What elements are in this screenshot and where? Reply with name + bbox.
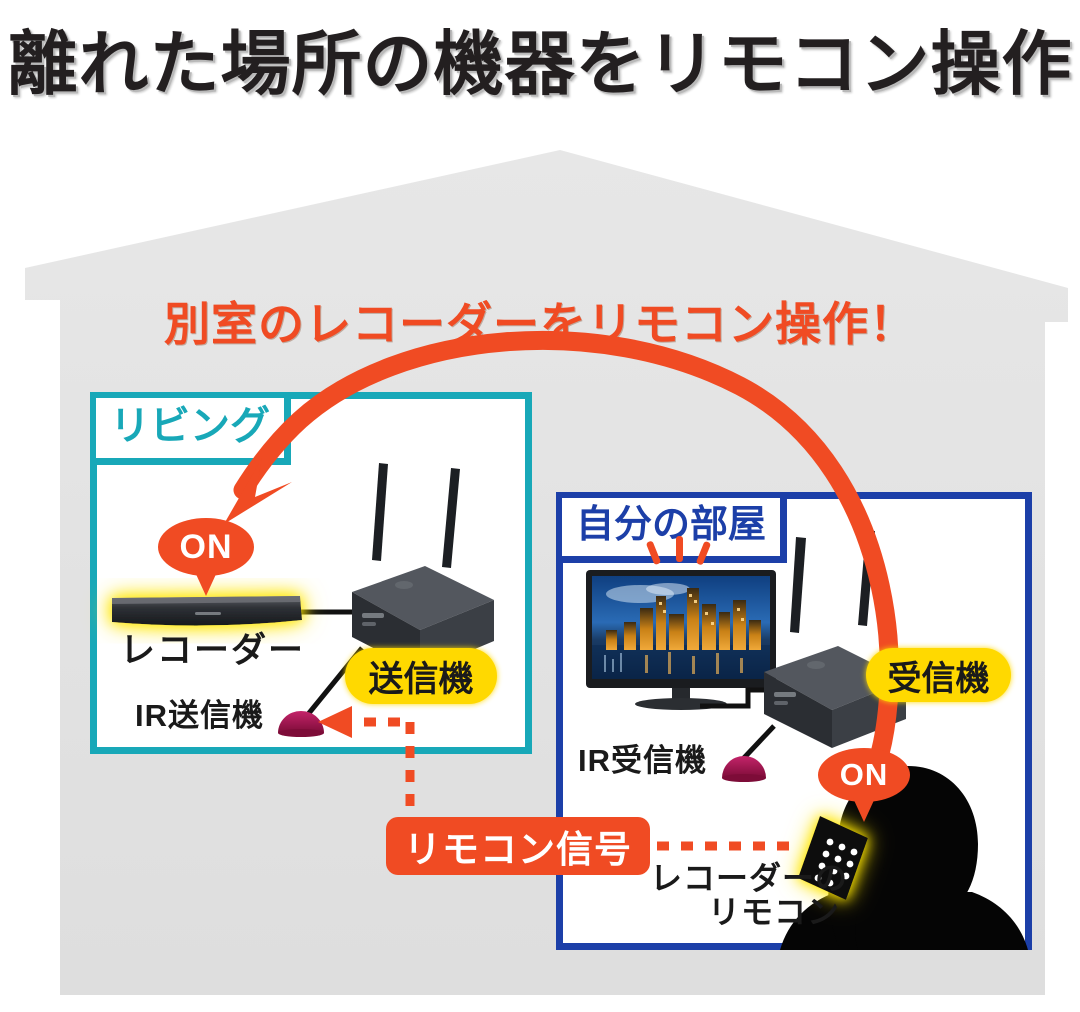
label-remote-line2: リモコン [650, 896, 840, 930]
label-recorder: レコーダー [120, 632, 305, 669]
ir-transmitter-dome [278, 711, 324, 737]
cable-tv-to-receiver [700, 690, 770, 706]
badge-transmitter: 送信機 [345, 648, 497, 704]
label-ir-receiver: IR受信機 [578, 745, 707, 778]
on-bubble-own-room-tail [853, 798, 875, 822]
transmitter-unit [352, 463, 494, 672]
on-bubble-living-label: ON [158, 518, 254, 576]
label-ir-transmitter: IR送信機 [135, 700, 264, 733]
on-bubble-living: ON [158, 518, 254, 576]
label-remote-line1: レコーダーの [650, 862, 840, 896]
tv-sparkle-icon [646, 536, 711, 566]
ir-receiver-dome [722, 756, 766, 782]
cable-receiver-to-ir [742, 726, 774, 760]
on-bubble-own-room: ON [818, 748, 910, 802]
badge-remote-signal: リモコン信号 [386, 817, 650, 875]
poster-canvas: 離れた場所の機器をリモコン操作 [0, 0, 1080, 1012]
badge-receiver: 受信機 [866, 648, 1011, 702]
recorder-device [112, 596, 302, 626]
on-bubble-own-room-label: ON [818, 748, 910, 802]
on-bubble-living-tail [195, 572, 217, 596]
label-remote-control: レコーダーの リモコン [650, 862, 840, 930]
